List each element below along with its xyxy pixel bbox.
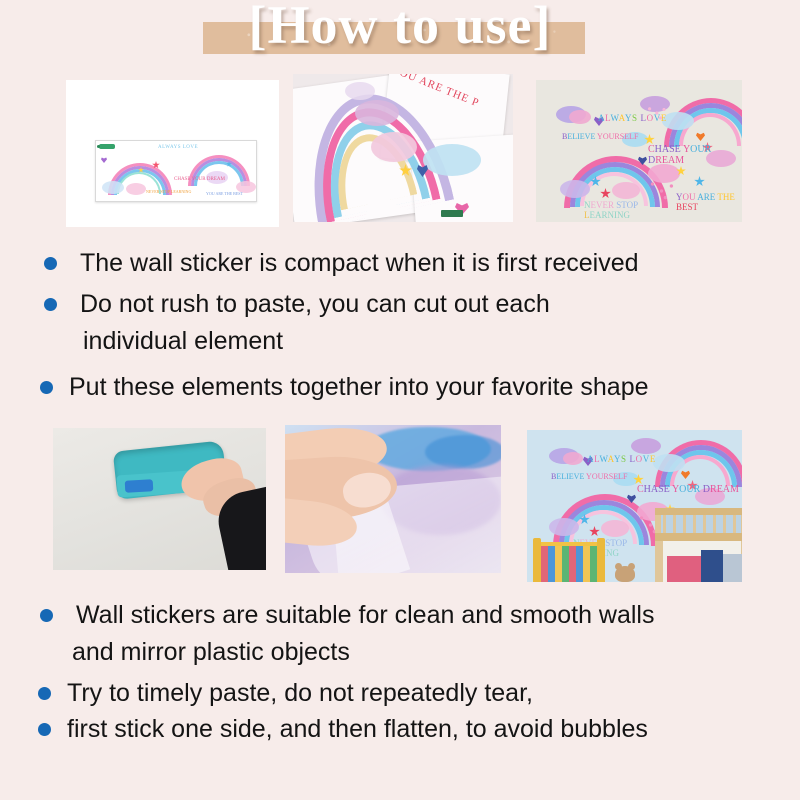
page-title: [How to use]: [0, 0, 800, 56]
photo-clean-wall-with-cloth: [53, 428, 266, 570]
bullet-dot-icon: [38, 723, 51, 736]
photo-cut-out-pieces: OU ARE THE P: [293, 74, 513, 222]
sticker-sheet-art: ALWAYS LOVE CHASE YOUR DREAM NEVER STOP …: [95, 140, 257, 202]
list-item: Wall stickers are suitable for clean and…: [40, 600, 654, 631]
list-item: The wall sticker is compact when it is f…: [44, 248, 639, 279]
photo-applied-on-wall: ALWAYS LOVE BELIEVE YOURSELF CHASE YOUR …: [536, 80, 742, 222]
bullet-dot-icon: [38, 687, 51, 700]
list-item-text: first stick one side, and then flatten, …: [67, 714, 648, 745]
list-item-continuation: individual element: [83, 326, 283, 357]
list-item-continuation: and mirror plastic objects: [72, 637, 350, 668]
bullet-dot-icon: [44, 257, 57, 270]
green-tab-icon: [99, 144, 115, 149]
how-to-use-page: [How to use] ALWAYS L: [0, 0, 800, 800]
list-item-text: Do not rush to paste, you can cut out ea…: [80, 289, 550, 320]
list-item-text: Try to timely paste, do not repeatedly t…: [67, 678, 533, 709]
page-title-block: [How to use]: [0, 0, 800, 70]
list-item-text: individual element: [83, 327, 283, 355]
list-item: first stick one side, and then flatten, …: [38, 714, 648, 745]
list-item-text: The wall sticker is compact when it is f…: [80, 248, 639, 279]
bullet-dot-icon: [40, 609, 53, 622]
list-item-text: and mirror plastic objects: [72, 638, 350, 666]
photo-kids-room-result: ALWAYS LOVE BELIEVE YOURSELF CHASE YOUR …: [527, 430, 742, 582]
photo-sticker-sheet-packaged: ALWAYS LOVE CHASE YOUR DREAM NEVER STOP …: [66, 80, 279, 227]
list-item: Do not rush to paste, you can cut out ea…: [44, 289, 550, 320]
list-item-text: Wall stickers are suitable for clean and…: [76, 600, 654, 631]
list-item-text: Put these elements together into your fa…: [69, 372, 649, 403]
photo-peel-backing-film: [285, 425, 501, 573]
bullet-dot-icon: [40, 381, 53, 394]
list-item: Put these elements together into your fa…: [40, 372, 649, 403]
list-item: Try to timely paste, do not repeatedly t…: [38, 678, 533, 709]
bullet-dot-icon: [44, 298, 57, 311]
